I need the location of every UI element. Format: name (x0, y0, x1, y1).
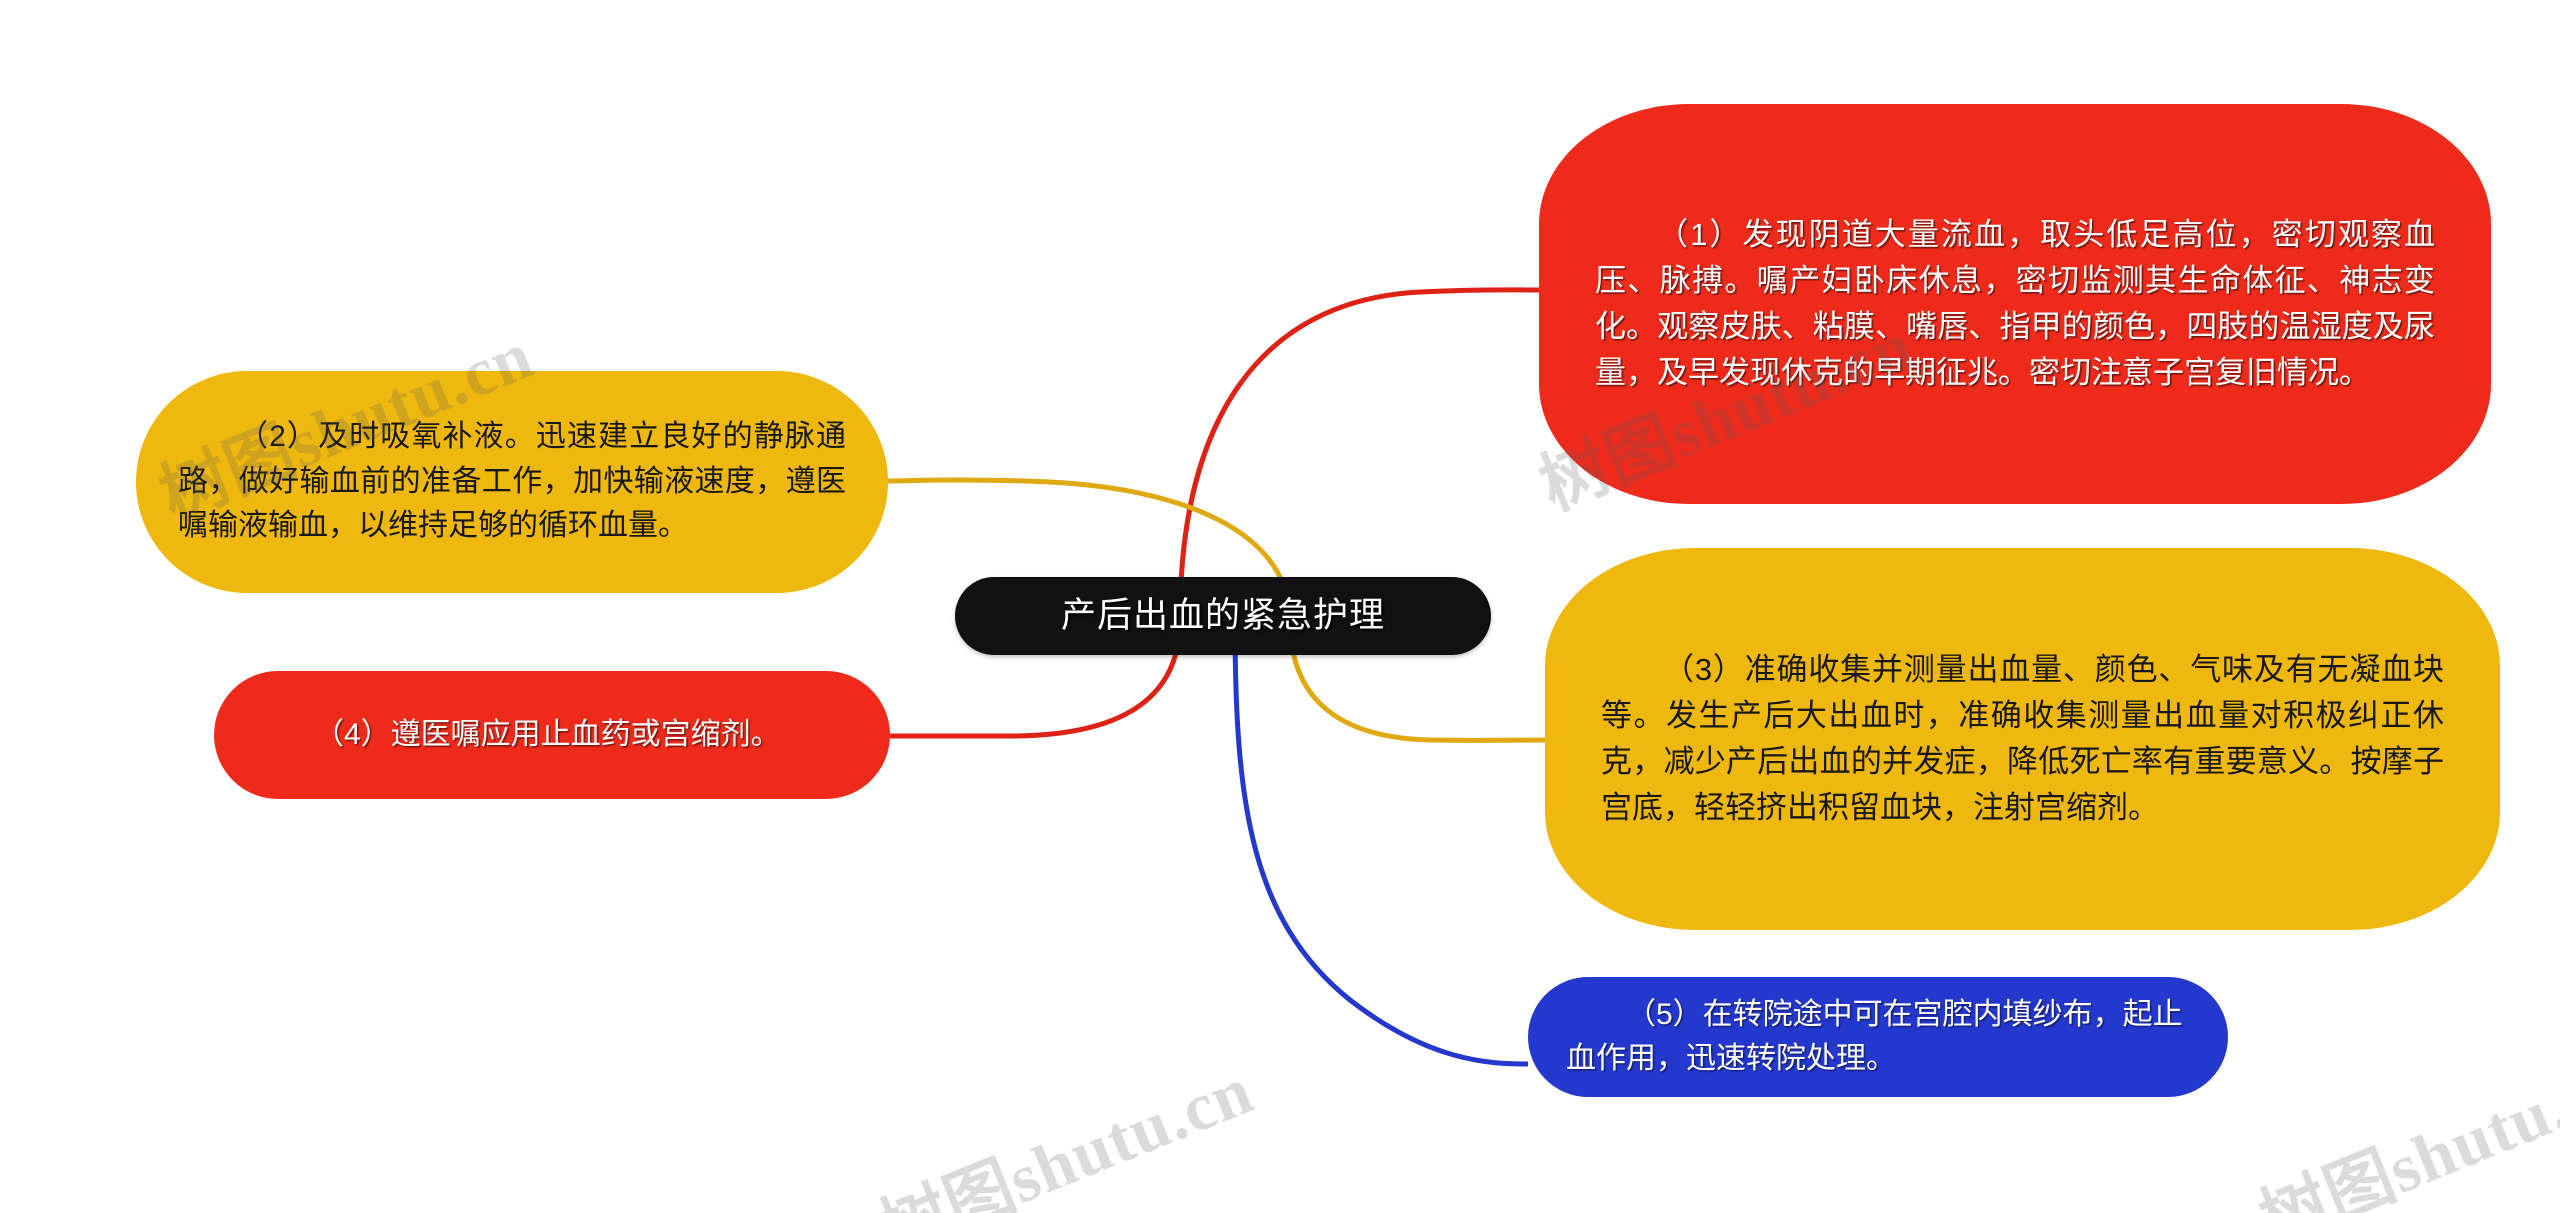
branch-node-3[interactable]: （3）准确收集并测量出血量、颜色、气味及有无凝血块等。发生产后大出血时，准确收集… (1545, 548, 2500, 930)
branch-node-3-label: （3）准确收集并测量出血量、颜色、气味及有无凝血块等。发生产后大出血时，准确收集… (1601, 647, 2444, 831)
branch-node-1-label: （1）发现阴道大量流血，取头低足高位，密切观察血压、脉搏。嘱产妇卧床休息，密切监… (1595, 212, 2435, 396)
connector-root-to-branch-1 (1180, 290, 1539, 620)
branch-node-2[interactable]: （2）及时吸氧补液。迅速建立良好的静脉通路，做好输血前的准备工作，加快输液速度，… (136, 371, 888, 593)
branch-node-4[interactable]: （4）遵医嘱应用止血药或宫缩剂。 (214, 671, 890, 799)
branch-node-1[interactable]: （1）发现阴道大量流血，取头低足高位，密切观察血压、脉搏。嘱产妇卧床休息，密切监… (1539, 104, 2491, 504)
root-topic-node[interactable]: 产后出血的紧急护理 (955, 577, 1491, 655)
branch-node-2-label: （2）及时吸氧补液。迅速建立良好的静脉通路，做好输血前的准备工作，加快输液速度，… (178, 415, 846, 548)
mindmap-canvas: （1）发现阴道大量流血，取头低足高位，密切观察血压、脉搏。嘱产妇卧床休息，密切监… (0, 0, 2560, 1213)
connector-root-to-branch-5 (1235, 620, 1528, 1064)
branch-node-5-label: （5）在转院途中可在宫腔内填纱布，起止血作用，迅速转院处理。 (1566, 993, 2190, 1082)
branch-node-5[interactable]: （5）在转院途中可在宫腔内填纱布，起止血作用，迅速转院处理。 (1528, 977, 2228, 1097)
branch-node-4-label: （4）遵医嘱应用止血药或宫缩剂。 (254, 713, 850, 757)
root-topic-label: 产后出血的紧急护理 (955, 590, 1491, 642)
